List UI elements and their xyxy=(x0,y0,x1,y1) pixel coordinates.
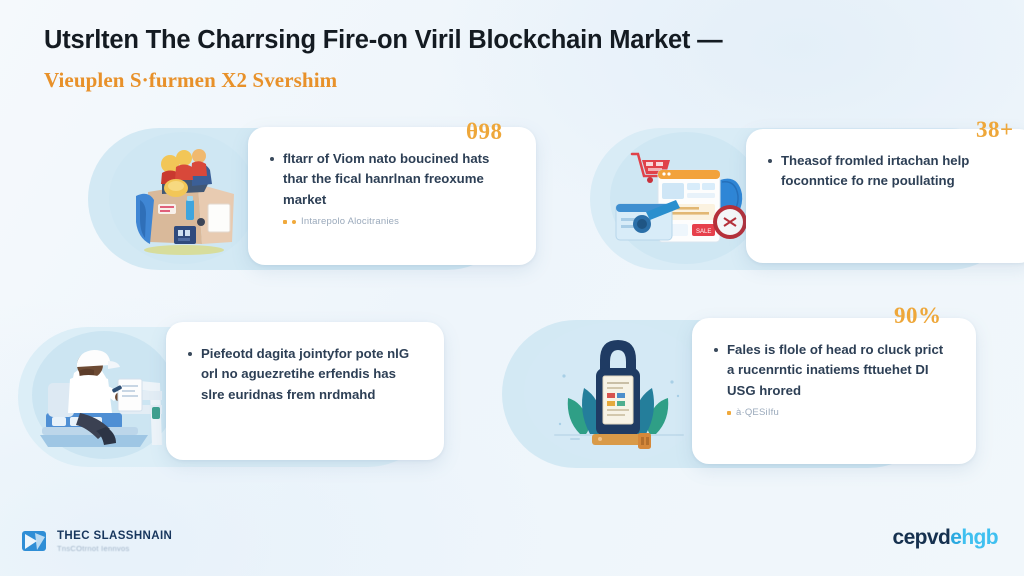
brand-logo-icon xyxy=(22,528,48,554)
card-1-subnote-text: Intarepolo Alocitranies xyxy=(301,216,399,227)
subnote-square-icon xyxy=(283,220,287,224)
card-4-bullet-row: Fales is flole of head ro cluck prict a … xyxy=(714,340,950,401)
card-3-bullet-text: Piefeotd dagita jointyfor pote nlG orl n… xyxy=(201,344,418,405)
padlock-document-security-illustration xyxy=(520,316,720,466)
bullet-dot-icon xyxy=(714,348,718,352)
card-2-stat: 38+ xyxy=(976,117,1014,143)
card-1-stat: θ98 xyxy=(466,119,503,145)
slide-canvas: Utsrlten The Charrsing Fire-on Viril Blo… xyxy=(0,0,1024,576)
footer-left-logo[interactable]: THEC SLASSHNAIN TnsCOtrnot Iennvos xyxy=(22,528,172,554)
card-1[interactable]: fltarr of Viom nato boucined hats thar t… xyxy=(92,126,536,266)
card-4-text: Fales is flole of head ro cluck prict a … xyxy=(692,318,976,464)
card-1-bullet-row: fltarr of Viom nato boucined hats thar t… xyxy=(270,149,510,210)
footer-right-part2: e xyxy=(950,526,961,549)
footer-right-part3: hgb xyxy=(961,526,998,549)
footer-right-logo[interactable]: cepvdehgb xyxy=(893,526,998,550)
family-moving-boxes-illustration xyxy=(100,126,270,266)
card-3-text: Piefeotd dagita jointyfor pote nlG orl n… xyxy=(166,322,444,460)
card-1-text: fltarr of Viom nato boucined hats thar t… xyxy=(248,127,536,265)
bullet-dot-icon xyxy=(270,157,274,161)
footer-left-logo-text: THEC SLASSHNAIN TnsCOtrnot Iennvos xyxy=(57,530,172,553)
card-4-subnote-text: à·QESiIfu xyxy=(736,407,779,418)
bullet-dot-icon xyxy=(188,352,192,356)
card-2[interactable]: SALE xyxy=(596,126,1024,266)
cards-row-2: Piefeotd dagita jointyfor pote nlG orl n… xyxy=(0,316,976,466)
subnote-square-icon xyxy=(727,411,731,415)
card-4[interactable]: Fales is flole of head ro cluck prict a … xyxy=(506,316,976,466)
cards-row-1: fltarr of Viom nato boucined hats thar t… xyxy=(0,126,1024,266)
card-2-bullet-text: Theasof fromled irtachan help foconntice… xyxy=(781,151,1010,192)
svg-text:SALE: SALE xyxy=(696,229,711,235)
header: Utsrlten The Charrsing Fire-on Viril Blo… xyxy=(44,26,964,93)
footer-logo-tagline: TnsCOtrnot Iennvos xyxy=(57,544,172,553)
card-2-text: Theasof fromled irtachan help foconntice… xyxy=(746,129,1024,263)
card-2-bullet-row: Theasof fromled irtachan help foconntice… xyxy=(768,151,1010,192)
footer-right-part1: cepvd xyxy=(893,526,951,549)
page-subtitle: Vieuplen S·furmen X2 Svershim xyxy=(44,68,964,93)
card-3[interactable]: Piefeotd dagita jointyfor pote nlG orl n… xyxy=(18,321,444,461)
card-3-bullet-row: Piefeotd dagita jointyfor pote nlG orl n… xyxy=(188,344,418,405)
card-1-bullet-text: fltarr of Viom nato boucined hats thar t… xyxy=(283,149,510,210)
card-4-subnote: à·QESiIfu xyxy=(727,407,950,418)
subnote-dot-icon xyxy=(292,220,296,224)
worker-writing-clipboard-illustration xyxy=(24,321,184,461)
bullet-dot-icon xyxy=(768,159,772,163)
card-4-stat: 90% xyxy=(894,303,942,329)
footer-logo-name: THEC SLASSHNAIN xyxy=(57,530,172,542)
card-1-subnote: Intarepolo Alocitranies xyxy=(283,216,510,227)
page-title: Utsrlten The Charrsing Fire-on Viril Blo… xyxy=(44,26,964,55)
card-4-bullet-text: Fales is flole of head ro cluck prict a … xyxy=(727,340,950,401)
